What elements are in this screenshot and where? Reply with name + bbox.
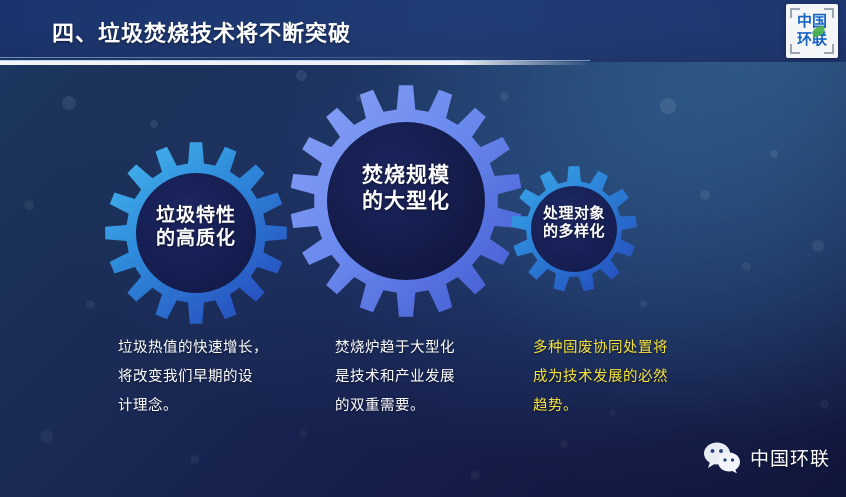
wechat-footer: 中国环联 — [702, 441, 830, 473]
caption-line: 垃圾热值的快速增长， — [118, 334, 333, 363]
caption-line: 焚烧炉趋于大型化 — [335, 334, 535, 363]
caption-line: 的双重需要。 — [335, 392, 535, 421]
logo-text-line1: 中国 — [786, 12, 838, 30]
slide-root: 四、垃圾焚烧技术将不断突破 中国 环联 — [0, 0, 846, 497]
caption-line: 是技术和产业发展 — [335, 363, 535, 392]
gear-incineration-scale: 焚烧规模 的大型化 — [290, 85, 522, 317]
gear-shape-icon — [511, 166, 637, 292]
header-divider-thin — [0, 57, 560, 58]
header-divider — [0, 60, 590, 65]
gear-treatment-diversity: 处理对象 的多样化 — [511, 166, 637, 292]
caption-line: 成为技术发展的必然 — [533, 363, 738, 392]
brand-logo: 中国 环联 — [786, 4, 838, 58]
wechat-account-name: 中国环联 — [750, 444, 830, 471]
gear-shape-icon — [290, 85, 522, 317]
page-title: 四、垃圾焚烧技术将不断突破 — [52, 16, 351, 48]
caption-treatment-diversity: 多种固废协同处置将 成为技术发展的必然 趋势。 — [533, 334, 738, 421]
caption-line: 计理念。 — [118, 392, 333, 421]
wechat-icon — [702, 441, 742, 473]
gear-shape-icon — [105, 142, 287, 324]
gear-waste-quality: 垃圾特性 的高质化 — [105, 142, 287, 324]
caption-line: 趋势。 — [533, 392, 738, 421]
caption-line: 将改变我们早期的设 — [118, 363, 333, 392]
caption-line: 多种固废协同处置将 — [533, 334, 738, 363]
caption-incineration-scale: 焚烧炉趋于大型化 是技术和产业发展 的双重需要。 — [335, 334, 535, 421]
caption-waste-quality: 垃圾热值的快速增长， 将改变我们早期的设 计理念。 — [118, 334, 333, 421]
